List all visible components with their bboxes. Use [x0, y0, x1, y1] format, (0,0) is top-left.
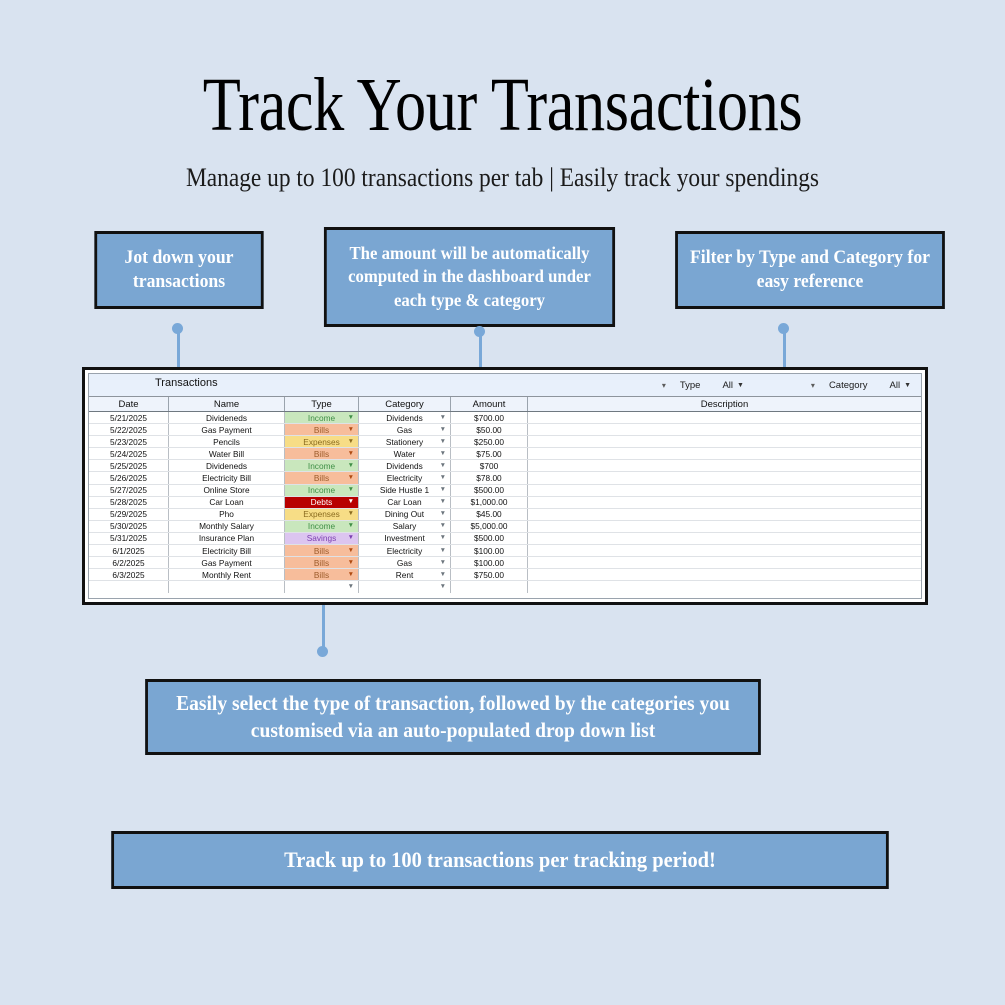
cell-category[interactable]: Car Loan▼	[359, 497, 451, 508]
column-header-name[interactable]: Name	[169, 397, 285, 411]
cell-category[interactable]: Dining Out▼	[359, 509, 451, 520]
cell-category[interactable]: Electricity▼	[359, 545, 451, 556]
chevron-down-icon[interactable]: ▼	[440, 572, 446, 579]
table-row[interactable]: 5/24/2025Water BillBills▼Water▼$75.00	[89, 448, 921, 460]
cell-description[interactable]	[528, 521, 921, 532]
cell-description[interactable]	[528, 448, 921, 459]
chevron-down-icon[interactable]: ▼	[440, 463, 446, 470]
chevron-down-icon[interactable]: ▼	[348, 559, 354, 566]
cell-category[interactable]: Investment▼	[359, 533, 451, 544]
cell-type[interactable]: Debts▼	[285, 497, 359, 508]
cell-type[interactable]: Income▼	[285, 412, 359, 423]
cell-name[interactable]: Online Store	[169, 485, 285, 496]
cell-type[interactable]: Savings▼	[285, 533, 359, 544]
sheet-tab-title: Transactions	[155, 377, 218, 389]
cell-date[interactable]: 5/28/2025	[89, 497, 169, 508]
callout-select-type-dropdown: Easily select the type of transaction, f…	[145, 679, 761, 755]
cell-date[interactable]: 6/2/2025	[89, 557, 169, 568]
chevron-down-icon[interactable]: ▼	[440, 584, 446, 591]
cell-date[interactable]: 5/26/2025	[89, 472, 169, 483]
table-row[interactable]: 6/2/2025Gas PaymentBills▼Gas▼$100.00	[89, 557, 921, 569]
cell-amount[interactable]: $700.00	[451, 412, 528, 423]
spreadsheet-topbar: Transactions ▾ Type All ▼ ▾ Category All…	[89, 374, 921, 397]
callout-jot-down-transactions: Jot down your transactions	[94, 231, 263, 309]
column-header-type[interactable]: Type	[285, 397, 359, 411]
table-row[interactable]: 5/23/2025PencilsExpenses▼Stationery▼$250…	[89, 436, 921, 448]
chevron-down-icon[interactable]: ▼	[440, 475, 446, 482]
cell-type[interactable]: Income▼	[285, 460, 359, 471]
chevron-down-icon[interactable]: ▼	[348, 475, 354, 482]
cell-name[interactable]: Divideneds	[169, 460, 285, 471]
cell-description[interactable]	[528, 424, 921, 435]
callout-text: Filter by Type and Category for easy ref…	[687, 246, 933, 295]
cell-amount[interactable]: $700	[451, 460, 528, 471]
column-header-amount[interactable]: Amount	[451, 397, 528, 411]
table-row[interactable]: 5/29/2025PhoExpenses▼Dining Out▼$45.00	[89, 509, 921, 521]
callout-filter-by-type-category: Filter by Type and Category for easy ref…	[675, 231, 945, 309]
filter-type[interactable]: ▾ Type All ▼	[659, 380, 744, 391]
cell-category[interactable]: Water▼	[359, 448, 451, 459]
chevron-down-icon[interactable]: ▼	[737, 382, 744, 389]
chevron-down-icon[interactable]: ▼	[440, 487, 446, 494]
cell-amount[interactable]: $100.00	[451, 557, 528, 568]
cell-name[interactable]: Divideneds	[169, 412, 285, 423]
cell-category[interactable]: Gas▼	[359, 424, 451, 435]
chevron-down-icon[interactable]: ▼	[348, 426, 354, 433]
cell-type[interactable]: Income▼	[285, 521, 359, 532]
cell-date[interactable]: 5/23/2025	[89, 436, 169, 447]
cell-amount[interactable]: $750.00	[451, 569, 528, 580]
table-row[interactable]: 5/30/2025Monthly SalaryIncome▼Salary▼$5,…	[89, 521, 921, 533]
chevron-down-icon[interactable]: ▼	[440, 438, 446, 445]
column-header-description[interactable]: Description	[528, 397, 921, 411]
cell-category[interactable]: Rent▼	[359, 569, 451, 580]
table-row[interactable]: 5/28/2025Car LoanDebts▼Car Loan▼$1,000.0…	[89, 497, 921, 509]
cell-amount[interactable]: $45.00	[451, 509, 528, 520]
page-subtitle: Manage up to 100 transactions per tab | …	[50, 163, 955, 193]
cell-amount[interactable]: $1,000.00	[451, 497, 528, 508]
table-row[interactable]: 5/25/2025DividenedsIncome▼Dividends▼$700	[89, 460, 921, 472]
cell-date[interactable]: 5/25/2025	[89, 460, 169, 471]
cell-description[interactable]	[528, 545, 921, 556]
chevron-down-icon[interactable]: ▼	[348, 535, 354, 542]
cell-amount[interactable]: $5,000.00	[451, 521, 528, 532]
callout-amount-auto-computed: The amount will be automatically compute…	[324, 227, 615, 327]
cell-type[interactable]: Bills▼	[285, 472, 359, 483]
table-row[interactable]: 5/21/2025DividenedsIncome▼Dividends▼$700…	[89, 412, 921, 424]
cell-description[interactable]	[528, 472, 921, 483]
cell-type[interactable]: Bills▼	[285, 557, 359, 568]
table-body: 5/21/2025DividenedsIncome▼Dividends▼$700…	[89, 412, 921, 581]
filter-type-label: Type	[680, 380, 701, 391]
callout-text: The amount will be automatically compute…	[336, 242, 603, 311]
cell-type[interactable]: ▼	[285, 581, 359, 593]
chevron-down-icon[interactable]: ▼	[440, 499, 446, 506]
callout-track-100-transactions: Track up to 100 transactions per trackin…	[111, 831, 888, 889]
cell-date[interactable]: 5/27/2025	[89, 485, 169, 496]
cell-description[interactable]	[528, 497, 921, 508]
filter-type-value: All	[722, 380, 733, 391]
cell-type[interactable]: Bills▼	[285, 424, 359, 435]
cell-category[interactable]: Dividends▼	[359, 412, 451, 423]
spreadsheet: Transactions ▾ Type All ▼ ▾ Category All…	[88, 373, 922, 599]
cell-category[interactable]: Gas▼	[359, 557, 451, 568]
cell-name[interactable]: Car Loan	[169, 497, 285, 508]
chevron-down-icon[interactable]: ▼	[904, 382, 911, 389]
table-header-row: Date Name Type Category Amount Descripti…	[89, 397, 921, 412]
poster-canvas: Track Your Transactions Manage up to 100…	[0, 0, 1005, 1005]
chevron-down-icon[interactable]: ▼	[348, 572, 354, 579]
table-row[interactable]: 6/3/2025Monthly RentBills▼Rent▼$750.00	[89, 569, 921, 581]
table-row[interactable]: 6/1/2025Electricity BillBills▼Electricit…	[89, 545, 921, 557]
cell-type[interactable]: Bills▼	[285, 448, 359, 459]
cell-amount[interactable]: $500.00	[451, 485, 528, 496]
filter-icon: ▾	[808, 381, 818, 390]
cell-name[interactable]: Insurance Plan	[169, 533, 285, 544]
chevron-down-icon[interactable]: ▼	[348, 499, 354, 506]
cell-type[interactable]: Income▼	[285, 485, 359, 496]
cell-description[interactable]	[528, 460, 921, 471]
page-title: Track Your Transactions	[90, 62, 914, 149]
filter-category-value: All	[890, 380, 901, 391]
cell-description[interactable]	[528, 509, 921, 520]
cell-description[interactable]	[528, 533, 921, 544]
cell-name[interactable]: Water Bill	[169, 448, 285, 459]
callout-text: Jot down your transactions	[106, 246, 251, 295]
table-row[interactable]: 5/27/2025Online StoreIncome▼Side Hustle …	[89, 485, 921, 497]
cell-name[interactable]: Monthly Rent	[169, 569, 285, 580]
filter-bar: ▾ Type All ▼ ▾ Category All ▼	[659, 374, 911, 397]
cell-name[interactable]: Monthly Salary	[169, 521, 285, 532]
chevron-down-icon[interactable]: ▼	[440, 451, 446, 458]
callout-text: Easily select the type of transaction, f…	[157, 690, 748, 744]
cell-date[interactable]: 5/30/2025	[89, 521, 169, 532]
cell-description[interactable]	[528, 436, 921, 447]
chevron-down-icon[interactable]: ▼	[348, 523, 354, 530]
filter-category-label: Category	[829, 380, 868, 391]
cell-name[interactable]: Gas Payment	[169, 424, 285, 435]
table-row[interactable]: 5/26/2025Electricity BillBills▼Electrici…	[89, 472, 921, 484]
cell-amount[interactable]	[451, 581, 528, 593]
table-row[interactable]: 5/31/2025Insurance PlanSavings▼Investmen…	[89, 533, 921, 545]
spreadsheet-frame: Transactions ▾ Type All ▼ ▾ Category All…	[82, 367, 928, 605]
chevron-down-icon[interactable]: ▼	[440, 414, 446, 421]
cell-date[interactable]: 6/1/2025	[89, 545, 169, 556]
cell-amount[interactable]: $500.00	[451, 533, 528, 544]
cell-type[interactable]: Bills▼	[285, 569, 359, 580]
cell-amount[interactable]: $78.00	[451, 472, 528, 483]
chevron-down-icon[interactable]: ▼	[348, 438, 354, 445]
chevron-down-icon[interactable]: ▼	[440, 523, 446, 530]
column-header-date[interactable]: Date	[89, 397, 169, 411]
filter-category[interactable]: ▾ Category All ▼	[808, 380, 911, 391]
chevron-down-icon[interactable]: ▼	[440, 426, 446, 433]
column-header-category[interactable]: Category	[359, 397, 451, 411]
cell-name[interactable]: Electricity Bill	[169, 545, 285, 556]
cell-date[interactable]: 6/3/2025	[89, 569, 169, 580]
cell-date[interactable]: 5/29/2025	[89, 509, 169, 520]
cell-description[interactable]	[528, 569, 921, 580]
cell-category[interactable]: Side Hustle 1▼	[359, 485, 451, 496]
cell-date[interactable]	[89, 581, 169, 593]
chevron-down-icon[interactable]: ▼	[348, 451, 354, 458]
cell-category[interactable]: ▼	[359, 581, 451, 593]
cell-description[interactable]	[528, 557, 921, 568]
cell-type[interactable]: Bills▼	[285, 545, 359, 556]
chevron-down-icon[interactable]: ▼	[348, 511, 354, 518]
cell-description[interactable]	[528, 412, 921, 423]
cell-name[interactable]: Electricity Bill	[169, 472, 285, 483]
chevron-down-icon[interactable]: ▼	[348, 547, 354, 554]
chevron-down-icon[interactable]: ▼	[440, 535, 446, 542]
cell-amount[interactable]: $75.00	[451, 448, 528, 459]
cell-description[interactable]	[528, 485, 921, 496]
connector-dot-bottom	[317, 646, 328, 657]
chevron-down-icon[interactable]: ▼	[440, 547, 446, 554]
cell-name[interactable]	[169, 581, 285, 593]
chevron-down-icon[interactable]: ▼	[348, 584, 354, 591]
cell-type[interactable]: Expenses▼	[285, 509, 359, 520]
cell-date[interactable]: 5/22/2025	[89, 424, 169, 435]
cell-name[interactable]: Pencils	[169, 436, 285, 447]
chevron-down-icon[interactable]: ▼	[348, 414, 354, 421]
cell-category[interactable]: Electricity▼	[359, 472, 451, 483]
chevron-down-icon[interactable]: ▼	[348, 487, 354, 494]
table-row-empty[interactable]: ▼ ▼	[89, 581, 921, 593]
cell-amount[interactable]: $50.00	[451, 424, 528, 435]
callout-text: Track up to 100 transactions per trackin…	[284, 846, 716, 874]
cell-type[interactable]: Expenses▼	[285, 436, 359, 447]
chevron-down-icon[interactable]: ▼	[440, 559, 446, 566]
table-row[interactable]: 5/22/2025Gas PaymentBills▼Gas▼$50.00	[89, 424, 921, 436]
chevron-down-icon[interactable]: ▼	[440, 511, 446, 518]
cell-description[interactable]	[528, 581, 921, 593]
cell-amount[interactable]: $100.00	[451, 545, 528, 556]
cell-category[interactable]: Salary▼	[359, 521, 451, 532]
cell-amount[interactable]: $250.00	[451, 436, 528, 447]
filter-icon: ▾	[659, 381, 669, 390]
cell-category[interactable]: Stationery▼	[359, 436, 451, 447]
chevron-down-icon[interactable]: ▼	[348, 463, 354, 470]
cell-name[interactable]: Pho	[169, 509, 285, 520]
cell-category[interactable]: Dividends▼	[359, 460, 451, 471]
cell-date[interactable]: 5/24/2025	[89, 448, 169, 459]
cell-name[interactable]: Gas Payment	[169, 557, 285, 568]
cell-date[interactable]: 5/31/2025	[89, 533, 169, 544]
cell-date[interactable]: 5/21/2025	[89, 412, 169, 423]
